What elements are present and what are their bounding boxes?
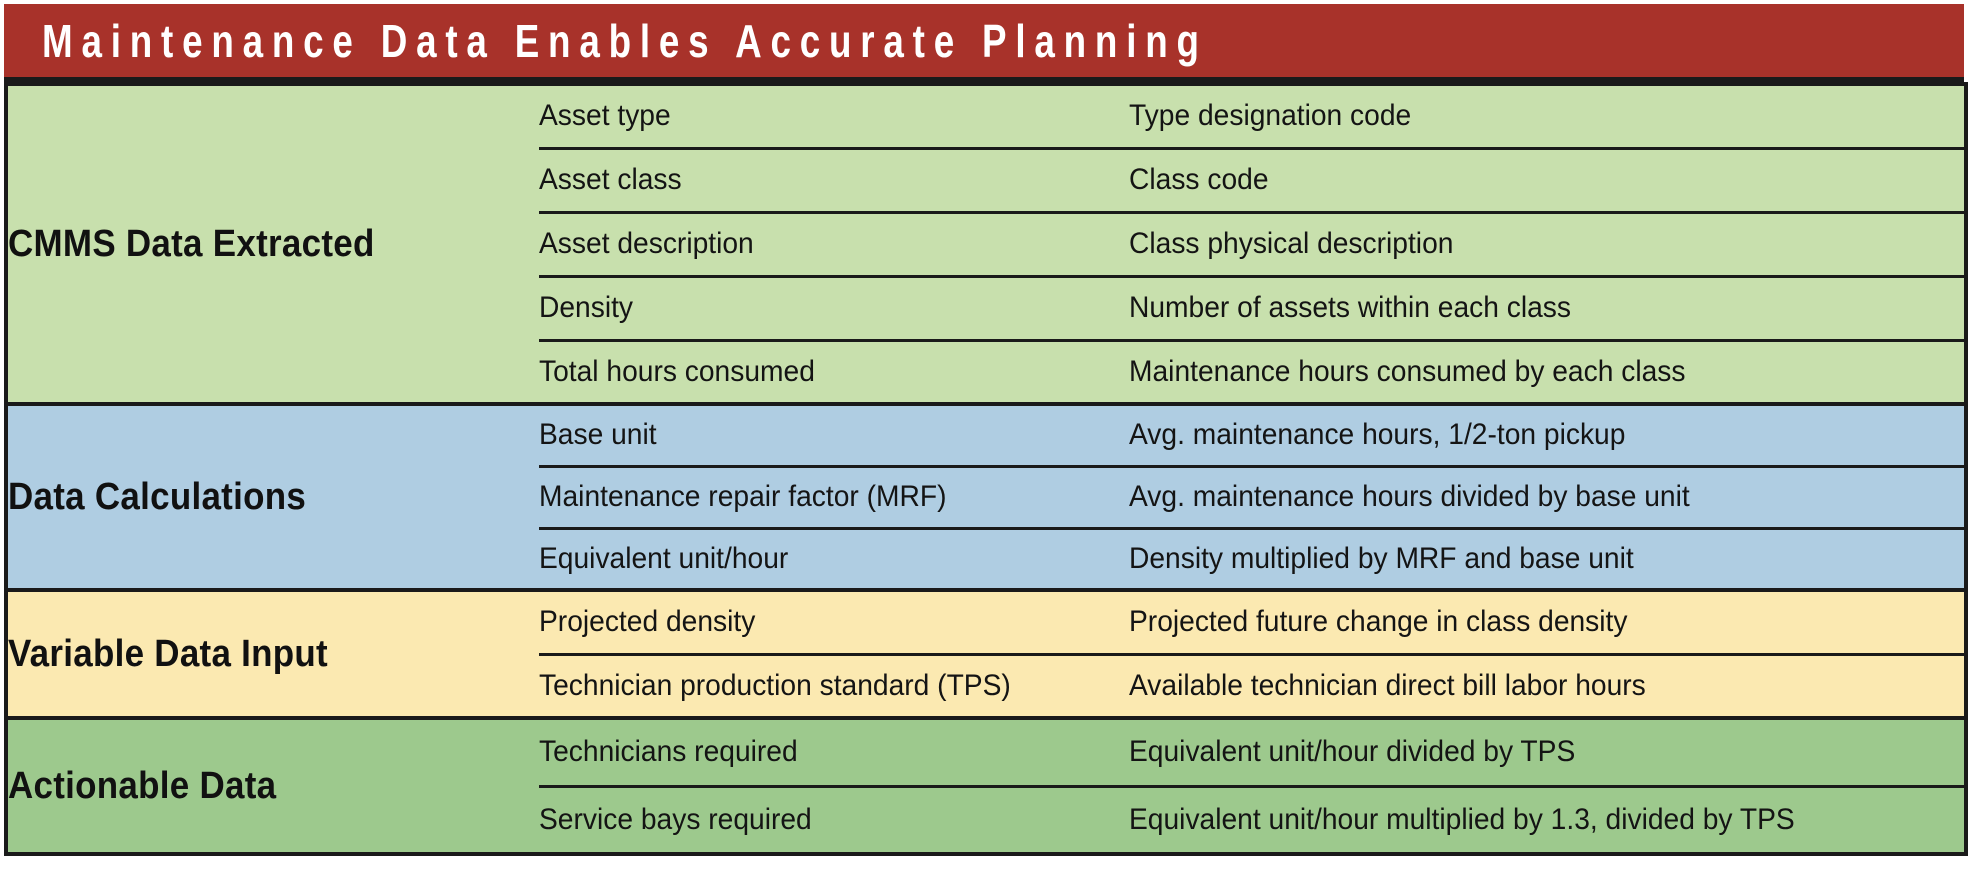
figure-title: Maintenance Data Enables Accurate Planni… xyxy=(42,18,1208,64)
row-item: Technician production standard (TPS) xyxy=(539,654,1129,718)
section-label-cmms-data-extracted: CMMS Data Extracted xyxy=(6,84,539,404)
row-description: Class physical description xyxy=(1129,212,1966,276)
row-description: Density multiplied by MRF and base unit xyxy=(1129,528,1966,590)
table-row: CMMS Data Extracted Asset type Type desi… xyxy=(6,84,1966,148)
row-description-text: Number of assets within each class xyxy=(1129,291,1571,325)
row-description-text: Equivalent unit/hour multiplied by 1.3, … xyxy=(1129,803,1795,837)
row-description: Equivalent unit/hour divided by TPS xyxy=(1129,718,1966,786)
table-row: Variable Data Input Projected density Pr… xyxy=(6,590,1966,654)
row-item: Asset description xyxy=(539,212,1129,276)
section-label-actionable-data: Actionable Data xyxy=(6,718,539,854)
row-item: Base unit xyxy=(539,404,1129,466)
row-description: Equivalent unit/hour multiplied by 1.3, … xyxy=(1129,786,1966,854)
row-description-text: Avg. maintenance hours, 1/2-ton pickup xyxy=(1129,418,1625,452)
row-item-text: Projected density xyxy=(539,605,755,639)
row-description-text: Type designation code xyxy=(1129,99,1411,133)
row-description-text: Density multiplied by MRF and base unit xyxy=(1129,542,1634,576)
section-label-data-calculations: Data Calculations xyxy=(6,404,539,590)
row-description: Number of assets within each class xyxy=(1129,276,1966,340)
row-description-text: Available technician direct bill labor h… xyxy=(1129,669,1646,703)
row-description: Available technician direct bill labor h… xyxy=(1129,654,1966,718)
section-label-text: Actionable Data xyxy=(8,765,276,807)
row-item-text: Total hours consumed xyxy=(539,355,815,389)
figure-title-bar: Maintenance Data Enables Accurate Planni… xyxy=(4,4,1964,82)
row-item: Technicians required xyxy=(539,718,1129,786)
row-item-text: Asset description xyxy=(539,227,754,261)
row-item-text: Maintenance repair factor (MRF) xyxy=(539,480,946,514)
row-item-text: Technicians required xyxy=(539,735,798,769)
row-item: Equivalent unit/hour xyxy=(539,528,1129,590)
row-description-text: Avg. maintenance hours divided by base u… xyxy=(1129,480,1690,514)
row-item: Service bays required xyxy=(539,786,1129,854)
row-item-text: Equivalent unit/hour xyxy=(539,542,788,576)
row-item: Asset class xyxy=(539,148,1129,212)
row-description-text: Projected future change in class density xyxy=(1129,605,1627,639)
maintenance-data-table: CMMS Data Extracted Asset type Type desi… xyxy=(4,82,1968,856)
row-item-text: Asset class xyxy=(539,163,682,197)
row-item-text: Asset type xyxy=(539,99,671,133)
row-description-text: Maintenance hours consumed by each class xyxy=(1129,355,1685,389)
section-label-variable-data-input: Variable Data Input xyxy=(6,590,539,718)
row-item-text: Technician production standard (TPS) xyxy=(539,669,1011,703)
row-description-text: Equivalent unit/hour divided by TPS xyxy=(1129,735,1575,769)
row-item: Maintenance repair factor (MRF) xyxy=(539,466,1129,528)
row-description: Class code xyxy=(1129,148,1966,212)
maintenance-planning-table-figure: Maintenance Data Enables Accurate Planni… xyxy=(0,0,1968,870)
row-item-text: Density xyxy=(539,291,633,325)
row-item: Projected density xyxy=(539,590,1129,654)
row-item: Density xyxy=(539,276,1129,340)
row-description: Projected future change in class density xyxy=(1129,590,1966,654)
row-description: Avg. maintenance hours divided by base u… xyxy=(1129,466,1966,528)
table-row: Data Calculations Base unit Avg. mainten… xyxy=(6,404,1966,466)
row-description-text: Class code xyxy=(1129,163,1269,197)
row-description: Type designation code xyxy=(1129,84,1966,148)
row-item-text: Service bays required xyxy=(539,803,812,837)
section-label-text: Data Calculations xyxy=(8,476,306,518)
row-description: Avg. maintenance hours, 1/2-ton pickup xyxy=(1129,404,1966,466)
row-item-text: Base unit xyxy=(539,418,657,452)
row-item: Asset type xyxy=(539,84,1129,148)
section-label-text: CMMS Data Extracted xyxy=(8,223,375,265)
table-row: Actionable Data Technicians required Equ… xyxy=(6,718,1966,786)
row-description: Maintenance hours consumed by each class xyxy=(1129,340,1966,404)
section-label-text: Variable Data Input xyxy=(8,633,328,675)
row-description-text: Class physical description xyxy=(1129,227,1453,261)
row-item: Total hours consumed xyxy=(539,340,1129,404)
